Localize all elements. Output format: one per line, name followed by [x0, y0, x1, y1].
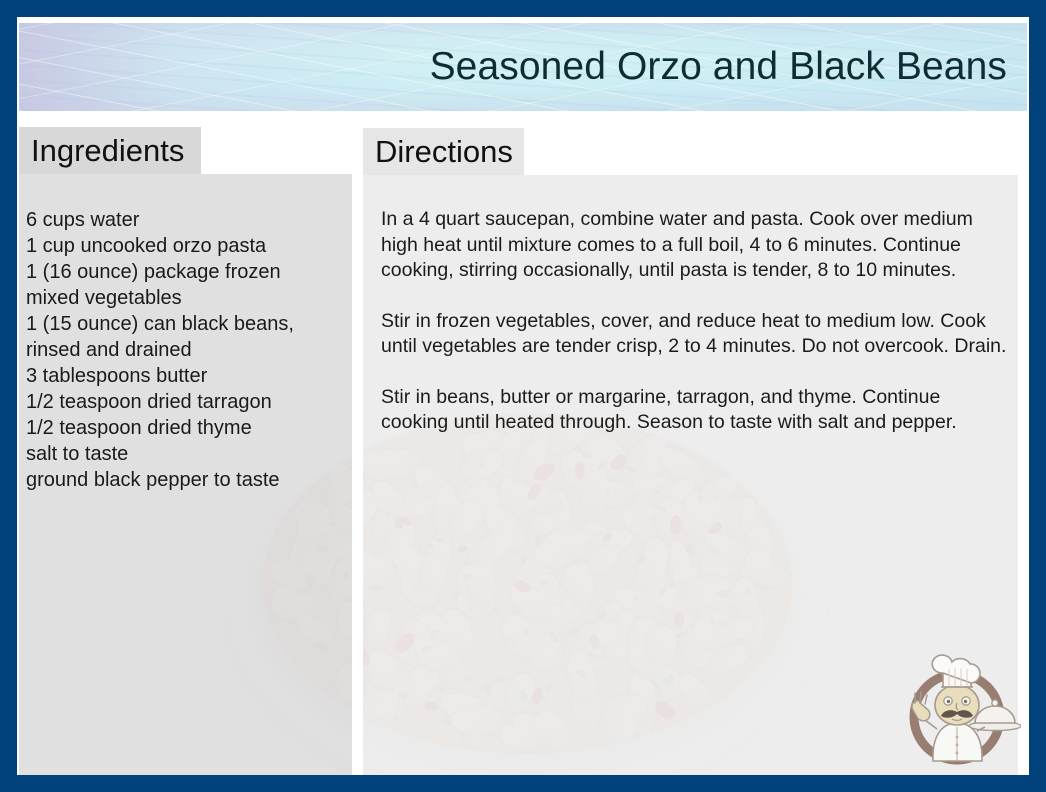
chef-head: [935, 685, 979, 725]
title-banner: Seasoned Orzo and Black Beans: [19, 23, 1027, 111]
ingredient-line: 1 cup uncooked orzo pasta: [26, 233, 346, 259]
section-heading-ingredients: Ingredients: [19, 127, 201, 174]
ingredients-panel: 6 cups water1 cup uncooked orzo pasta1 (…: [19, 174, 352, 775]
ingredient-line: 6 cups water: [26, 207, 346, 233]
ingredient-line: rinsed and drained: [26, 337, 346, 363]
ingredients-list: 6 cups water1 cup uncooked orzo pasta1 (…: [26, 207, 346, 493]
recipe-card: Seasoned Orzo and Black Beans Ingredient…: [0, 0, 1046, 792]
ingredient-line: mixed vegetables: [26, 285, 346, 311]
page-title: Seasoned Orzo and Black Beans: [430, 45, 1007, 89]
ingredient-line: 1/2 teaspoon dried tarragon: [26, 389, 346, 415]
recipe-page: Seasoned Orzo and Black Beans Ingredient…: [17, 17, 1029, 775]
ingredient-line: salt to taste: [26, 441, 346, 467]
direction-step: Stir in beans, butter or margarine, tarr…: [381, 385, 1009, 436]
ingredient-line: 1/2 teaspoon dried thyme: [26, 415, 346, 441]
directions-steps: In a 4 quart saucepan, combine water and…: [381, 207, 1009, 436]
direction-step: In a 4 quart saucepan, combine water and…: [381, 207, 1009, 284]
chef-mascot-logo: [899, 649, 1021, 767]
ingredient-line: 1 (15 ounce) can black beans,: [26, 311, 346, 337]
panel-gutter: [352, 174, 363, 775]
section-heading-directions: Directions: [363, 128, 524, 175]
ingredient-line: 3 tablespoons butter: [26, 363, 346, 389]
ingredient-line: 1 (16 ounce) package frozen: [26, 259, 346, 285]
direction-step: Stir in frozen vegetables, cover, and re…: [381, 309, 1009, 360]
ingredient-line: ground black pepper to taste: [26, 467, 346, 493]
